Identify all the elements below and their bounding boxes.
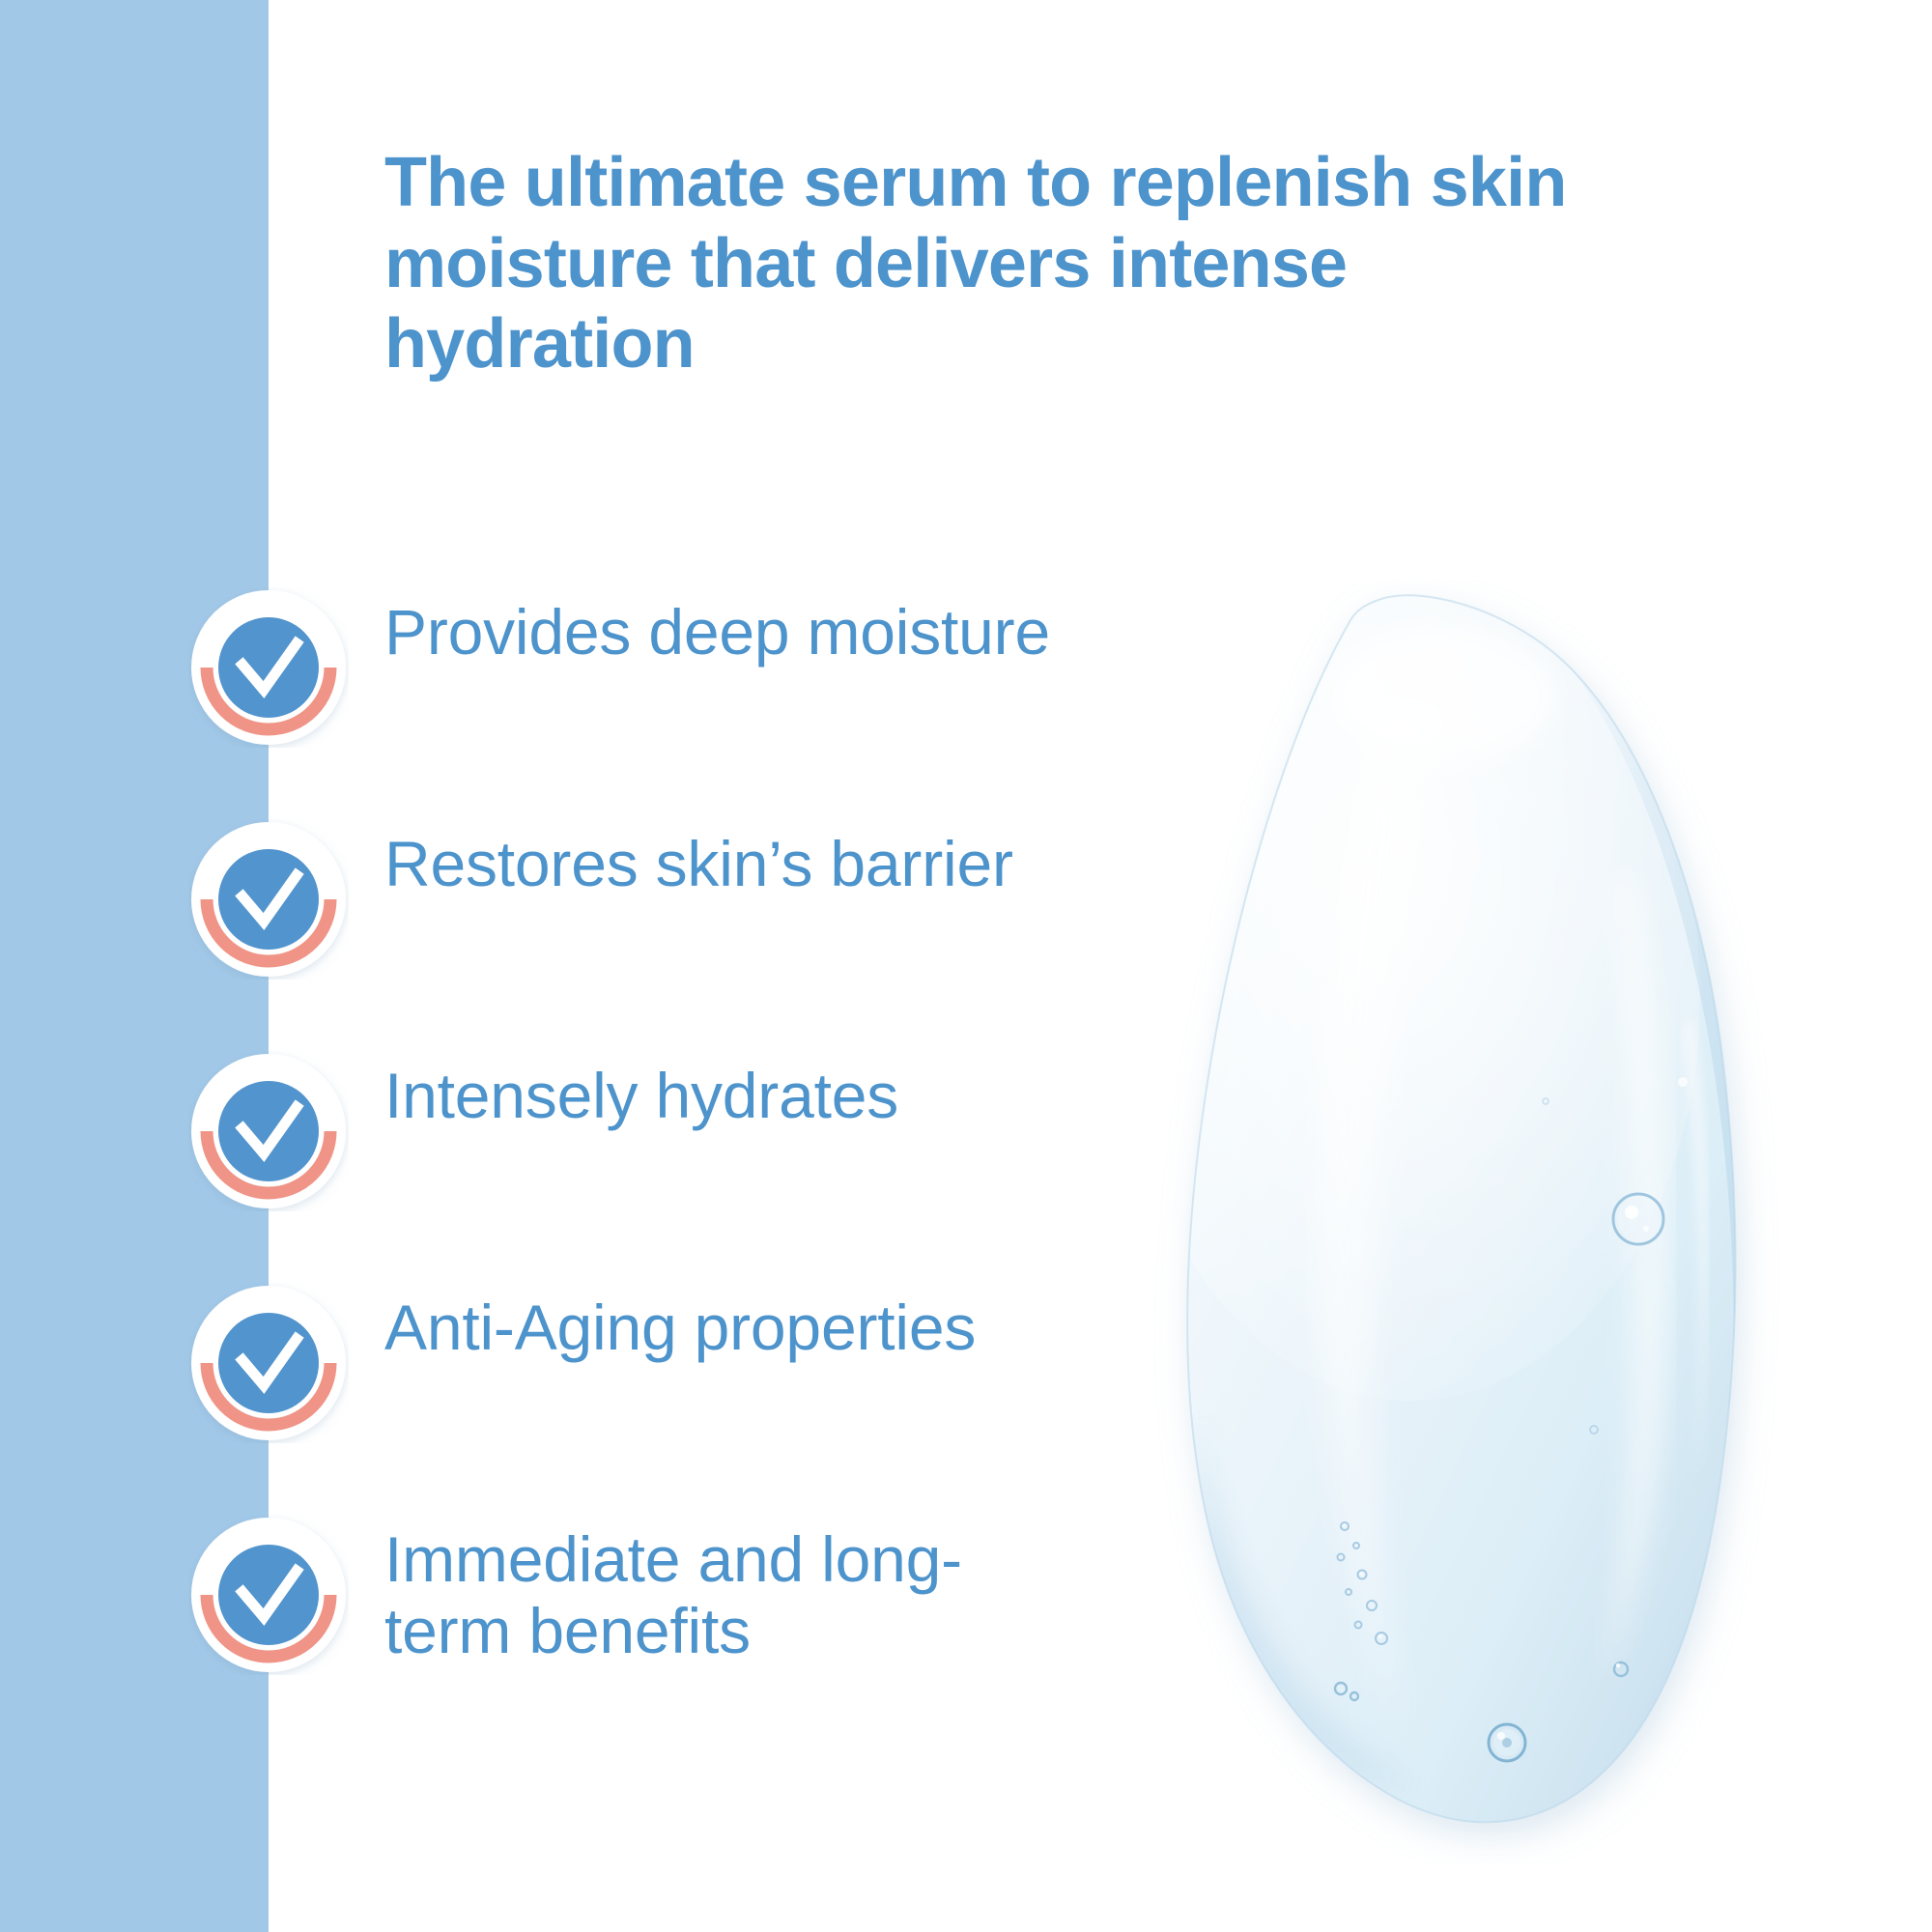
check-circle-icon xyxy=(188,587,349,748)
benefits-list: Provides deep moisture Restores s xyxy=(0,0,1207,1932)
benefit-label: Provides deep moisture xyxy=(384,597,1196,668)
check-circle-icon xyxy=(188,819,349,980)
benefit-label: Anti-Aging properties xyxy=(384,1293,1196,1364)
benefit-label: Intensely hydrates xyxy=(384,1061,1196,1132)
product-benefits-graphic: The ultimate serum to replenish skin moi… xyxy=(0,0,1932,1932)
check-circle-icon xyxy=(188,1051,349,1211)
benefit-label: Restores skin’s barrier xyxy=(384,829,1196,900)
benefit-label: Immediate and long- term benefits xyxy=(384,1524,1196,1667)
check-circle-icon xyxy=(188,1515,349,1675)
check-circle-icon xyxy=(188,1283,349,1443)
